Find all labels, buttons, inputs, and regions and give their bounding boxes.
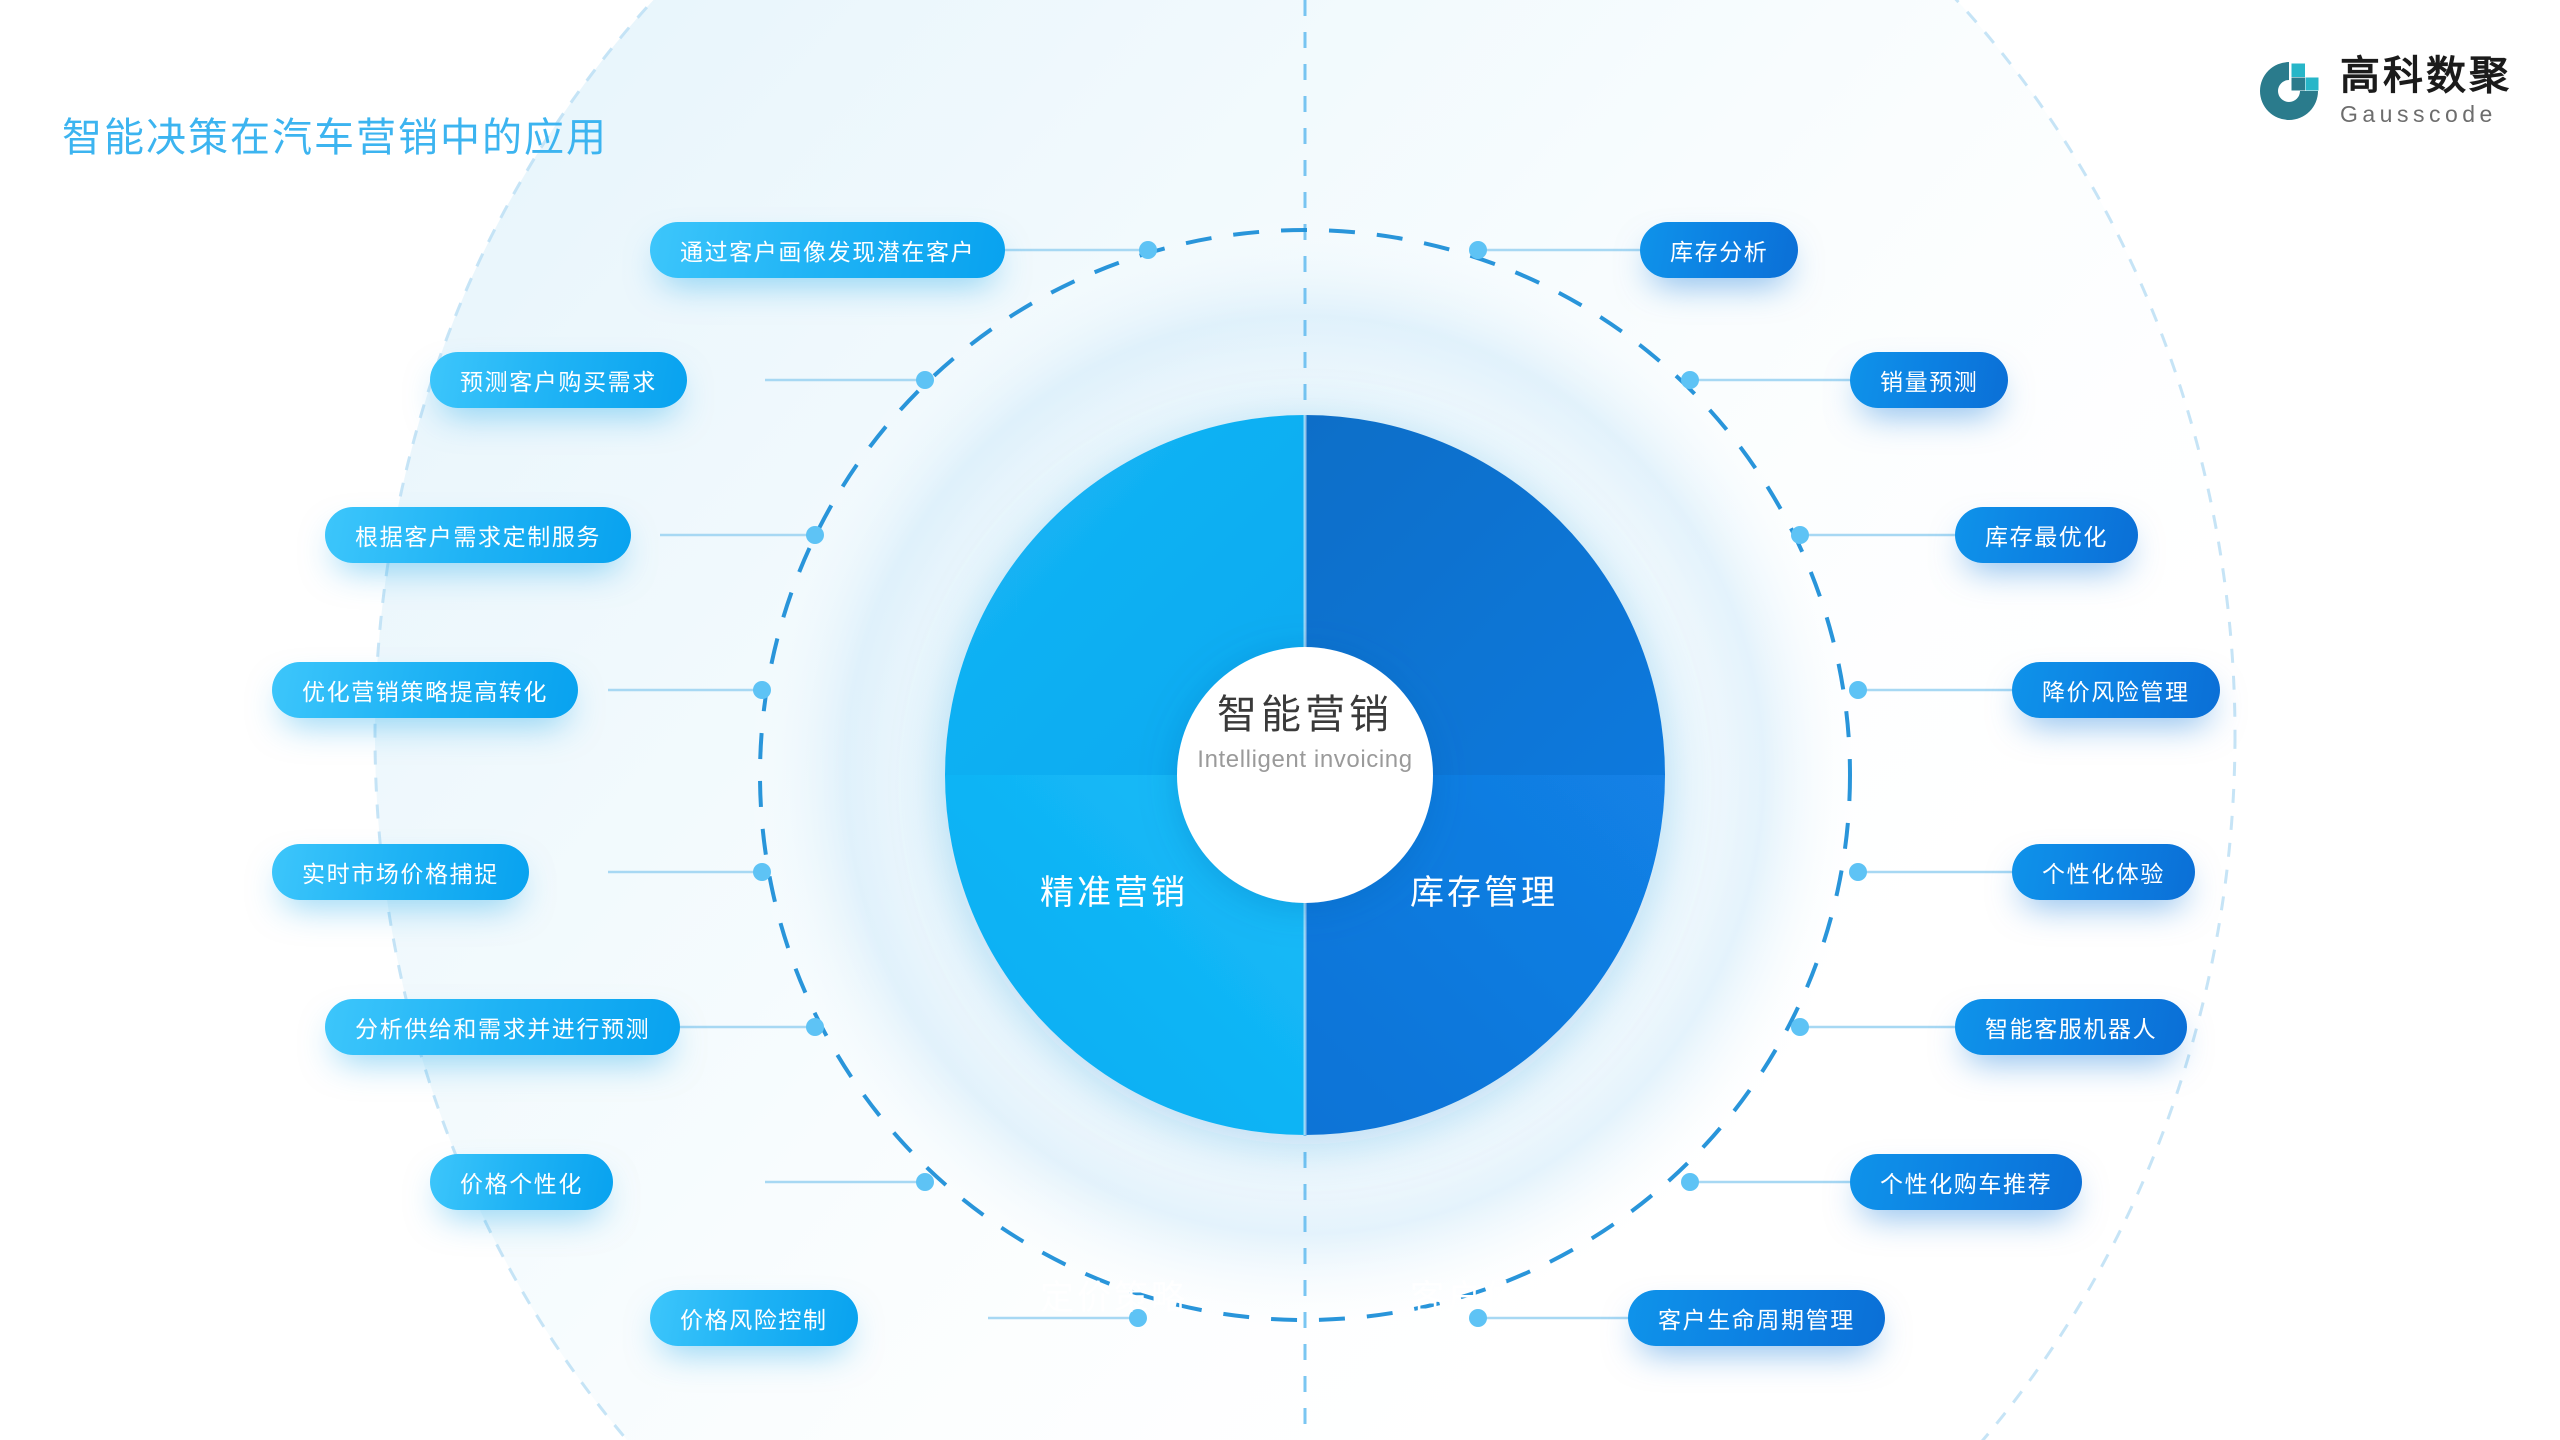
gausscode-c-mark-icon [2256,58,2322,124]
left-item-7[interactable]: 价格个性化 [430,1154,613,1210]
left-item-label: 分析供给和需求并进行预测 [355,1010,650,1044]
left-item-5[interactable]: 实时市场价格捕捉 [272,844,529,900]
infographic-canvas: 智能决策在汽车营销中的应用 高科数聚 Gausscode [0,0,2560,1440]
right-item-label: 库存分析 [1670,233,1768,267]
right-item-4[interactable]: 降价风险管理 [2012,662,2220,718]
left-item-label: 通过客户画像发现潜在客户 [680,233,975,267]
logo-text: 高科数聚 Gausscode [2340,56,2512,126]
logo-name-en: Gausscode [2340,103,2497,126]
left-item-8[interactable]: 价格风险控制 [650,1290,858,1346]
donut-core-circle [1177,647,1433,903]
page-title: 智能决策在汽车营销中的应用 [62,105,608,163]
left-item-4[interactable]: 优化营销策略提高转化 [272,662,578,718]
right-item-2[interactable]: 销量预测 [1850,352,2008,408]
right-item-6[interactable]: 智能客服机器人 [1955,999,2187,1055]
left-item-label: 实时市场价格捕捉 [302,855,499,889]
left-item-1[interactable]: 通过客户画像发现潜在客户 [650,222,1005,278]
left-item-label: 根据客户需求定制服务 [355,518,601,552]
right-item-label: 降价风险管理 [2042,673,2190,707]
quadrant-label-pricing-strategy: 定价策略 [1040,1270,1188,1319]
right-item-label: 销量预测 [1880,363,1978,397]
left-item-label: 价格个性化 [460,1165,583,1199]
donut-svg [855,325,1755,1225]
right-item-7[interactable]: 个性化购车推荐 [1850,1154,2082,1210]
right-item-label: 库存最优化 [1985,518,2108,552]
right-item-1[interactable]: 库存分析 [1640,222,1798,278]
right-item-label: 个性化购车推荐 [1880,1165,2052,1199]
quadrant-label-customer-experience: 客户体验 [1410,1270,1558,1319]
quadrant-label-precision-marketing: 精准营销 [1040,865,1188,914]
left-item-3[interactable]: 根据客户需求定制服务 [325,507,631,563]
right-item-5[interactable]: 个性化体验 [2012,844,2195,900]
left-item-2[interactable]: 预测客户购买需求 [430,352,687,408]
quadrant-label-inventory-management: 库存管理 [1410,865,1558,914]
right-item-label: 智能客服机器人 [1985,1010,2157,1044]
brand-logo: 高科数聚 Gausscode [2256,56,2512,126]
right-item-label: 客户生命周期管理 [1658,1301,1855,1335]
logo-name-cn: 高科数聚 [2340,56,2512,96]
left-item-label: 价格风险控制 [680,1301,828,1335]
right-item-3[interactable]: 库存最优化 [1955,507,2138,563]
right-item-label: 个性化体验 [2042,855,2165,889]
right-item-8[interactable]: 客户生命周期管理 [1628,1290,1885,1346]
left-item-label: 预测客户购买需求 [460,363,657,397]
left-item-6[interactable]: 分析供给和需求并进行预测 [325,999,680,1055]
left-item-label: 优化营销策略提高转化 [302,673,548,707]
central-donut: 精准营销 库存管理 定价策略 客户体验 [855,325,1755,1225]
